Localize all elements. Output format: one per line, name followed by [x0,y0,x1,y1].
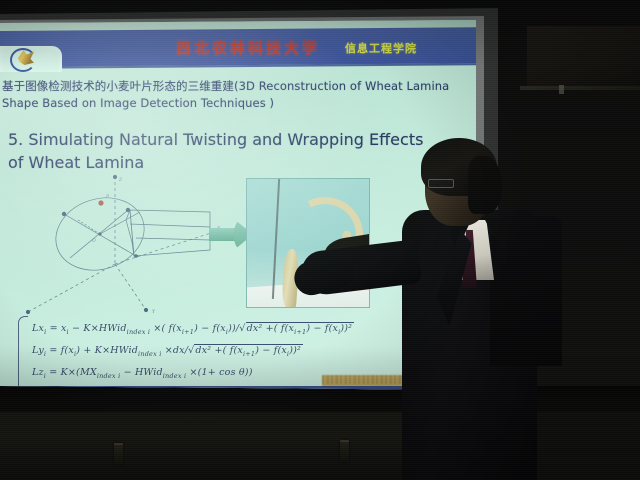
f2-rad2: ) − f(x [255,345,287,356]
f1-k-sub: index i [127,328,150,336]
f1-minus: − K×HWid [69,323,127,334]
presenter-hair-back [468,156,502,214]
formula-brace [18,316,28,393]
light-switch-right[interactable] [340,440,349,462]
slide-headline: 5. Simulating Natural Twisting and Wrapp… [8,128,428,174]
f2-eq: = f(x [46,345,74,356]
f1-lhs: Lx [32,323,44,334]
f3-lhs: Lz [32,367,44,378]
university-crest-logo [10,48,36,70]
svg-text:P: P [105,194,110,200]
presenter-person [380,138,585,480]
light-switch-left[interactable] [114,443,123,465]
slide-subtitle: 基于图像检测技术的小麦叶片形态的三维重建(3D Reconstruction o… [2,78,454,112]
f1-rad3: ))² [340,323,352,334]
f1-rad-sub: i+1 [294,328,306,336]
f1-rad: dx² +( f(x [247,323,295,334]
svg-text:O: O [92,238,96,244]
f3-eq-sub: index i [97,372,120,380]
photo-measuring-pole [272,179,280,299]
svg-text:Y: Y [152,309,156,315]
wall-board-knob [559,85,564,94]
f2-rad3: ))² [289,345,301,356]
f1-mid-sub: i+1 [182,328,194,336]
banner-university-name: 西北农林科技大学 [176,37,320,58]
f1-mid: ×( f(x [150,323,182,334]
f1-eq: = x [46,323,66,334]
wall-board-right [527,26,640,88]
f3-minus: − HWid [120,367,162,378]
formula-line-3: Lzi = K×(MXindex i − HWidindex i ×(1+ co… [32,362,253,387]
wall-board-right-edge [520,86,640,90]
f2-lhs: Ly [32,345,44,356]
f2-k-sub: index i [138,350,161,358]
f1-mid2: ) − f(x [194,323,226,334]
f1-rad2: ) − f(x [306,323,338,334]
f2-rad-sub: i+1 [243,350,255,358]
arrow-shaft [209,228,236,241]
f3-k-sub: index i [163,372,186,380]
presenter-glasses [428,179,454,188]
3d-coordinate-ellipse-diagram: Z X Y O P [18,172,233,317]
f3-eq: = K×(MX [46,367,97,378]
f2-rad: dx² +( f(x [195,345,243,356]
f3-tail: ×(1+ cos θ)) [186,367,252,378]
f2-mid: ×dx/ [162,345,189,356]
f1-tail: ))/ [228,323,239,334]
banner-college-name: 信息工程学院 [345,40,417,56]
f2-minus: ) + K×HWid [76,345,138,356]
lecture-room-scene: 西北农林科技大学 信息工程学院 基于图像检测技术的小麦叶片形态的三维重建(3D … [0,0,640,480]
svg-text:Z: Z [118,177,123,183]
